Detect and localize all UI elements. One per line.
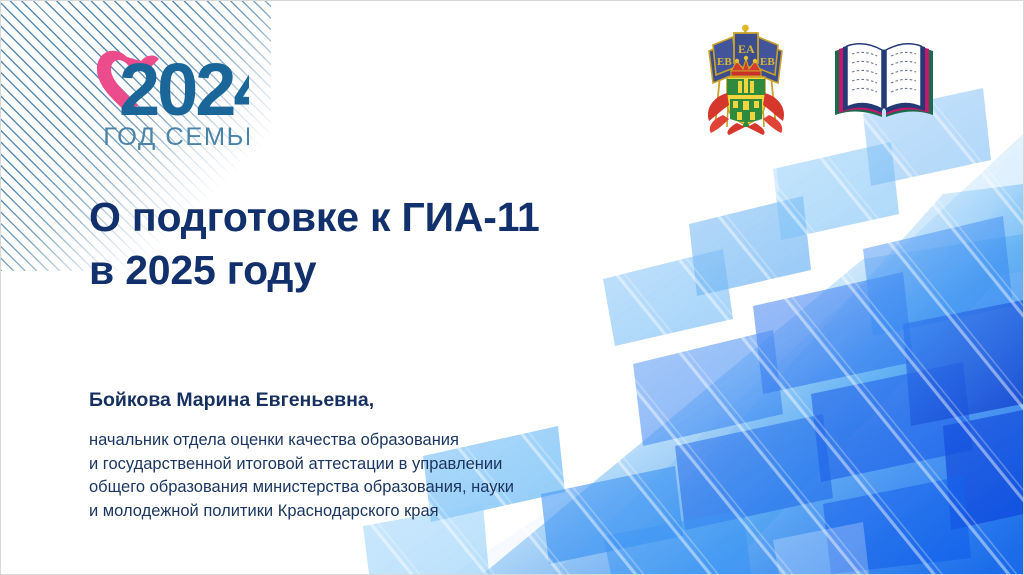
page-title: О подготовке к ГИА-11 в 2025 году [89,191,709,298]
presenter-name: Бойкова Марина Евгеньевна, [89,389,729,412]
presentation-title-slide: 2024 ГОД СЕМЬИ ЕВ [0,0,1024,575]
svg-text:ЕА: ЕА [738,42,755,56]
open-book-emblem [829,37,939,123]
svg-text:2024: 2024 [119,48,249,131]
krasnodar-krai-coat-of-arms: ЕВ ЕВ ЕА [693,23,799,135]
presenter-role-line-3: общего образования министерства образова… [89,476,729,499]
title-line-2: в 2025 году [89,244,709,297]
svg-text:ЕВ: ЕВ [717,56,732,68]
svg-text:ЕВ: ЕВ [760,56,775,68]
svg-text:ГОД СЕМЬИ: ГОД СЕМЬИ [103,123,249,151]
title-line-1: О подготовке к ГИА-11 [89,191,709,244]
presenter-role-line-2: и государственной итоговой аттестации в … [89,453,729,476]
presenter-role-line-4: и молодежной политики Краснодарского кра… [89,500,729,523]
presenter-role-line-1: начальник отдела оценки качества образов… [89,429,729,452]
presenter-info: Бойкова Марина Евгеньевна, начальник отд… [89,389,729,523]
year-of-family-2024-logo: 2024 ГОД СЕМЬИ [89,27,249,155]
